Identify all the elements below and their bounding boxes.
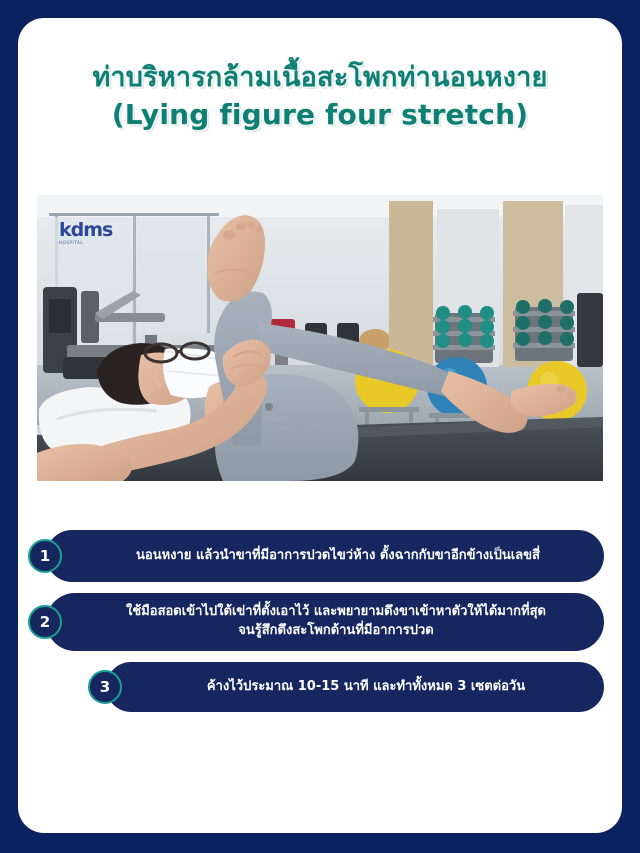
- step-3-bar: ค้างไว้ประมาณ 10-15 นาที และทำทั้งหมด 3 …: [106, 662, 604, 712]
- photo-illustration: [37, 195, 603, 481]
- title-block: ท่าบริหารกล้ามเนื้อสะโพกท่านอนหงาย (Lyin…: [18, 62, 622, 131]
- step-2-bar: ใช้มือสอดเข้าไปใต้เข่าที่ตั้งเอาไว้ และพ…: [46, 593, 604, 651]
- poster-root: ท่าบริหารกล้ามเนื้อสะโพกท่านอนหงาย (Lyin…: [0, 0, 640, 853]
- watermark-main-text: kdms: [59, 219, 112, 241]
- watermark-sub-text: HOSPITAL: [59, 241, 112, 245]
- step-2-text-line-2: จนรู้สึกตึงสะโพกด้านที่มีอาการปวด: [126, 622, 546, 641]
- step-3-text-line-1: ค้างไว้ประมาณ 10-15 นาที และทำทั้งหมด 3 …: [207, 679, 525, 694]
- exercise-photo: kdms HOSPITAL: [37, 195, 603, 481]
- instruction-step-1: นอนหงาย แล้วนำขาที่มีอาการปวดไขว่ห้าง ตั…: [18, 530, 622, 582]
- step-2-number-badge: 2: [28, 605, 62, 639]
- step-3-number-badge: 3: [88, 670, 122, 704]
- instruction-step-2: ใช้มือสอดเข้าไปใต้เข่าที่ตั้งเอาไว้ และพ…: [18, 593, 622, 651]
- step-1-bar: นอนหงาย แล้วนำขาที่มีอาการปวดไขว่ห้าง ตั…: [46, 530, 604, 582]
- poster-card: ท่าบริหารกล้ามเนื้อสะโพกท่านอนหงาย (Lyin…: [18, 18, 622, 833]
- step-2-text-line-1: ใช้มือสอดเข้าไปใต้เข่าที่ตั้งเอาไว้ และพ…: [126, 604, 546, 619]
- step-1-text-line-1: นอนหงาย แล้วนำขาที่มีอาการปวดไขว่ห้าง ตั…: [136, 548, 540, 563]
- kdms-logo-watermark: kdms HOSPITAL: [59, 221, 112, 245]
- step-1-number-badge: 1: [28, 539, 62, 573]
- page-title-line-2: (Lying figure four stretch): [18, 98, 622, 131]
- page-title-line-1: ท่าบริหารกล้ามเนื้อสะโพกท่านอนหงาย: [18, 62, 622, 94]
- instruction-steps-list: นอนหงาย แล้วนำขาที่มีอาการปวดไขว่ห้าง ตั…: [18, 530, 622, 725]
- instruction-step-3: ค้างไว้ประมาณ 10-15 นาที และทำทั้งหมด 3 …: [18, 662, 622, 714]
